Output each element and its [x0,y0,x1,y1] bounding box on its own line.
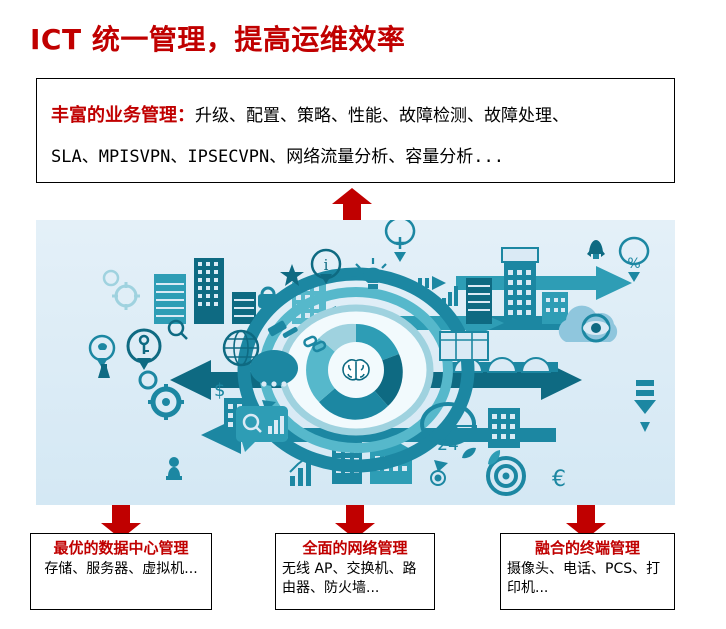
svg-text:%: % [627,256,640,272]
bottom-box-network: 全面的网络管理 无线 AP、交换机、路由器、防火墙... [275,533,435,610]
services-box: 丰富的业务管理：升级、配置、策略、性能、故障检测、故障处理、 SLA、MPISV… [36,78,675,183]
arrow-up-to-services [332,188,372,222]
euro-icon: € [552,467,566,492]
bottom-box-network-desc: 无线 AP、交换机、路由器、防火墙... [282,560,428,598]
bottom-box-terminal-desc: 摄像头、电话、PCS、打印机... [507,560,668,598]
page-title: ICT 统一管理，提高运维效率 [30,18,405,58]
bottom-box-datacenter-desc: 存储、服务器、虚拟机... [37,560,205,579]
table-icon [440,332,488,360]
bottom-box-terminal: 融合的终端管理 摄像头、电话、PCS、打印机... [500,533,675,610]
brain-icon [343,360,369,380]
svg-text:i: i [324,256,329,274]
services-heading: 丰富的业务管理： [51,105,195,126]
infographic-svg: % i [36,220,675,505]
bottom-box-datacenter: 最优的数据中心管理 存储、服务器、虚拟机... [30,533,212,610]
bottom-box-datacenter-title: 最优的数据中心管理 [31,539,211,558]
svg-text:€: € [552,467,566,492]
bottom-box-network-title: 全面的网络管理 [276,539,434,558]
bottom-box-terminal-title: 融合的终端管理 [501,539,674,558]
ict-infographic: % i [36,220,675,505]
services-line-1-body: 升级、配置、策略、性能、故障检测、故障处理、 [195,106,569,126]
slide-root: ICT 统一管理，提高运维效率 丰富的业务管理：升级、配置、策略、性能、故障检测… [0,0,726,629]
dollar-icon: $ [214,380,225,401]
services-line-2: SLA、MPISVPN、IPSECVPN、网络流量分析、容量分析... [51,142,504,167]
svg-text:$: $ [214,380,225,401]
services-line-1: 丰富的业务管理：升级、配置、策略、性能、故障检测、故障处理、 [51,101,569,127]
